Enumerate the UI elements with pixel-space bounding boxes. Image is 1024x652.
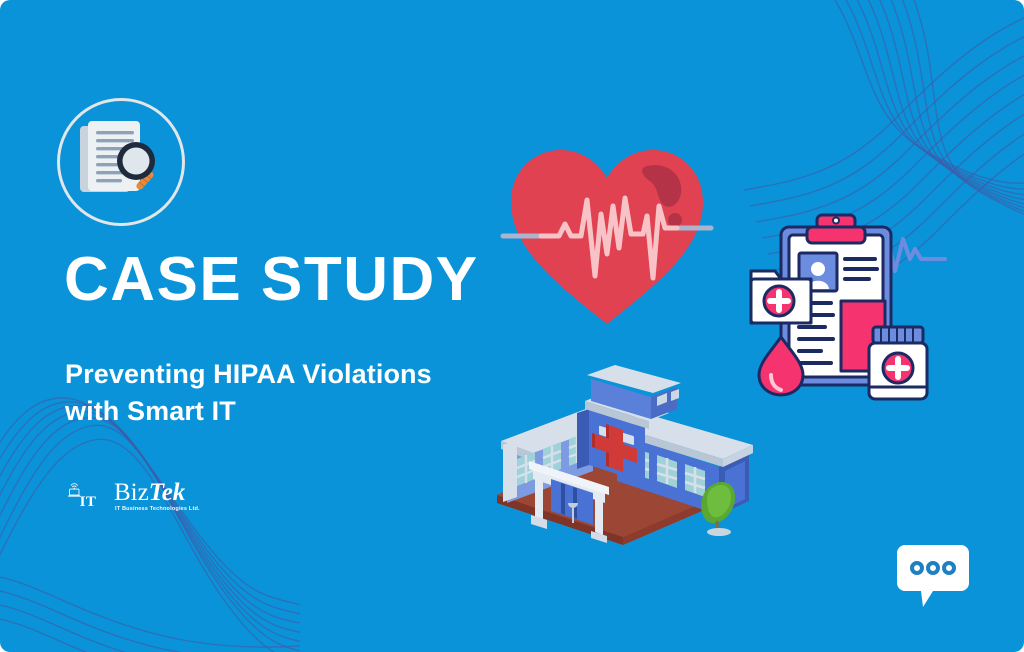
document-magnifier-icon bbox=[76, 118, 168, 208]
subtitle-line-1: Preventing HIPAA Violations bbox=[65, 356, 495, 393]
case-study-badge bbox=[57, 98, 185, 226]
page-subtitle: Preventing HIPAA Violations with Smart I… bbox=[65, 356, 495, 431]
subtitle-line-2: with Smart IT bbox=[65, 393, 495, 430]
medical-clipboard-illustration bbox=[745, 205, 957, 410]
brand-logo[interactable]: IT BizTek IT Business Technologies Ltd. bbox=[68, 468, 208, 522]
logo-tagline: IT Business Technologies Ltd. bbox=[115, 506, 200, 512]
page-title: CASE STUDY bbox=[64, 247, 479, 312]
case-study-poster: CASE STUDY Preventing HIPAA Violations w… bbox=[0, 0, 1024, 652]
logo-wordmark: BizTek bbox=[114, 480, 185, 505]
wave-lines-decor-bottom-left bbox=[0, 396, 300, 652]
hospital-building-3d-illustration bbox=[473, 363, 763, 548]
logo-word-biz: Biz bbox=[114, 479, 149, 506]
logo-mark-it-letters: IT bbox=[75, 494, 101, 511]
chat-bubble-icon[interactable] bbox=[897, 543, 969, 609]
logo-word-tek: Tek bbox=[149, 479, 186, 506]
heart-ecg-illustration bbox=[497, 128, 717, 333]
